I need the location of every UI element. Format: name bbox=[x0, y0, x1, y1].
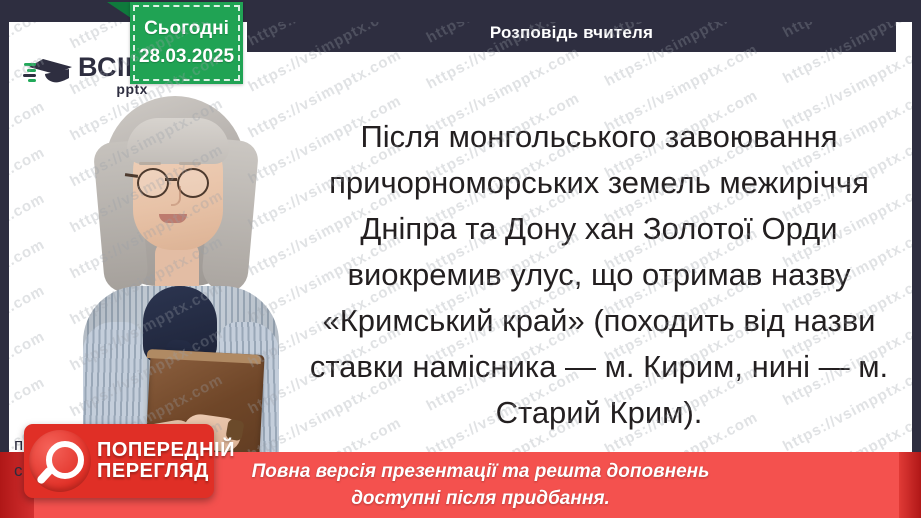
preview-badge-line2: ПЕРЕГЛЯД bbox=[97, 461, 235, 482]
photo-fringe bbox=[127, 118, 229, 164]
preview-badge[interactable]: ПОПЕРЕДНІЙ ПЕРЕГЛЯД bbox=[24, 424, 214, 498]
magnifier-handle bbox=[36, 466, 55, 485]
magnifier-icon bbox=[29, 430, 91, 492]
slide-header-bar: Розповідь вчителя bbox=[247, 14, 896, 52]
today-ribbon-tail bbox=[107, 2, 131, 18]
purchase-banner-line2: доступні після придбання. bbox=[252, 485, 710, 512]
obscured-left-text: пс bbox=[14, 432, 23, 484]
slide-body-text: Після монгольського завоювання причорном… bbox=[309, 114, 889, 436]
slide-header-title: Розповідь вчителя bbox=[490, 23, 653, 43]
glasses-lens-right bbox=[177, 168, 209, 198]
slide-canvas: ВСІМ pptx bbox=[9, 22, 912, 492]
slide-frame: ВСІМ pptx bbox=[0, 0, 921, 518]
today-badge-date: 28.03.2025 bbox=[139, 43, 234, 71]
logo-suffix-text: pptx bbox=[78, 82, 148, 96]
photo-brow-left bbox=[139, 162, 161, 165]
purchase-banner-line1: Повна версія презентації та решта доповн… bbox=[252, 458, 710, 485]
graduation-cap-icon bbox=[23, 54, 75, 96]
today-badge: Сьогодні 28.03.2025 bbox=[130, 2, 243, 84]
today-badge-label: Сьогодні bbox=[144, 15, 229, 43]
photo-brow-right bbox=[179, 162, 201, 165]
preview-badge-line1: ПОПЕРЕДНІЙ bbox=[97, 440, 235, 461]
glasses-lens-left bbox=[137, 168, 169, 198]
glasses-bridge bbox=[165, 178, 177, 181]
